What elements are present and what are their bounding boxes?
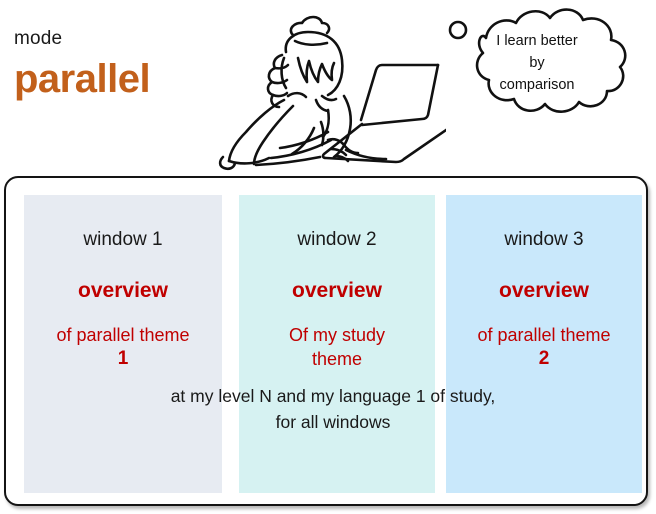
window-column-1[interactable]: window 1 overview of parallel theme 1 bbox=[24, 195, 222, 493]
window-2-subtitle-line-1: Of my study bbox=[289, 325, 385, 345]
windows-panel: window 1 overview of parallel theme 1 wi… bbox=[4, 176, 648, 506]
window-3-subtitle: of parallel theme 2 bbox=[446, 323, 642, 371]
window-1-subtitle: of parallel theme 1 bbox=[24, 323, 222, 371]
mode-label: mode bbox=[14, 28, 224, 50]
person-studying-at-laptop-illustration bbox=[196, 0, 446, 176]
window-3-heading: overview bbox=[446, 279, 642, 303]
window-column-3[interactable]: window 3 overview of parallel theme 2 bbox=[446, 195, 642, 493]
thought-bubble-text: I learn better by comparison bbox=[442, 30, 632, 96]
window-3-title: window 3 bbox=[446, 229, 642, 251]
mode-header: mode parallel bbox=[14, 28, 224, 102]
window-column-2[interactable]: window 2 overview Of my study theme bbox=[239, 195, 435, 493]
mode-value: parallel bbox=[14, 56, 224, 102]
window-1-subtitle-line-1: of parallel theme bbox=[56, 325, 189, 345]
window-2-subtitle: Of my study theme bbox=[239, 323, 435, 371]
window-1-subtitle-line-2: 1 bbox=[24, 347, 222, 371]
window-3-subtitle-line-2: 2 bbox=[446, 347, 642, 371]
window-3-subtitle-line-1: of parallel theme bbox=[477, 325, 610, 345]
window-1-heading: overview bbox=[24, 279, 222, 303]
window-2-title: window 2 bbox=[239, 229, 435, 251]
window-2-subtitle-line-2: theme bbox=[239, 347, 435, 371]
thought-bubble-line-2: by bbox=[442, 52, 632, 74]
window-1-title: window 1 bbox=[24, 229, 222, 251]
thought-bubble-line-1: I learn better bbox=[442, 30, 632, 52]
thought-bubble-line-3: comparison bbox=[442, 74, 632, 96]
window-2-heading: overview bbox=[239, 279, 435, 303]
